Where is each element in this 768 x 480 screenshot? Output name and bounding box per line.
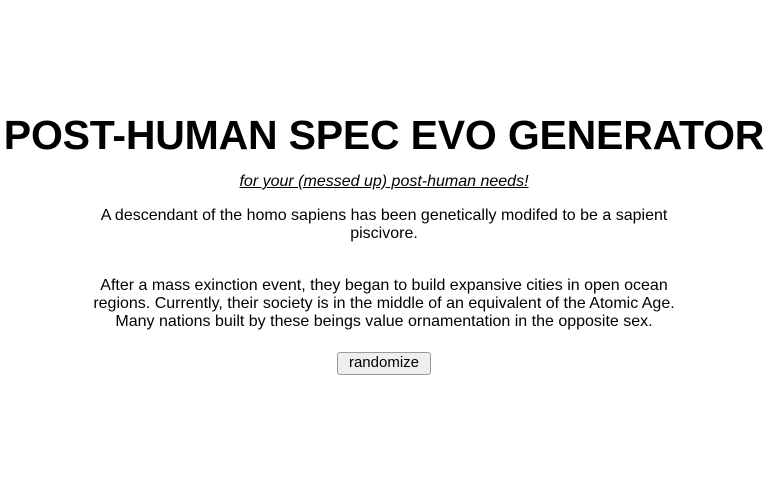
species-description-paragraph: A descendant of the homo sapiens has bee… [92,191,676,243]
tagline-text: for your (messed up) post-human needs! [239,173,528,190]
description-column: A descendant of the homo sapiens has bee… [92,191,676,331]
tagline-row: for your (messed up) post-human needs! [0,158,768,191]
society-description-paragraph: After a mass exinction event, they began… [92,243,676,331]
button-row: randomize [0,331,768,375]
generator-page: POST-HUMAN SPEC EVO GENERATOR for your (… [0,0,768,480]
page-title: POST-HUMAN SPEC EVO GENERATOR [0,112,768,158]
randomize-button[interactable]: randomize [337,352,431,375]
